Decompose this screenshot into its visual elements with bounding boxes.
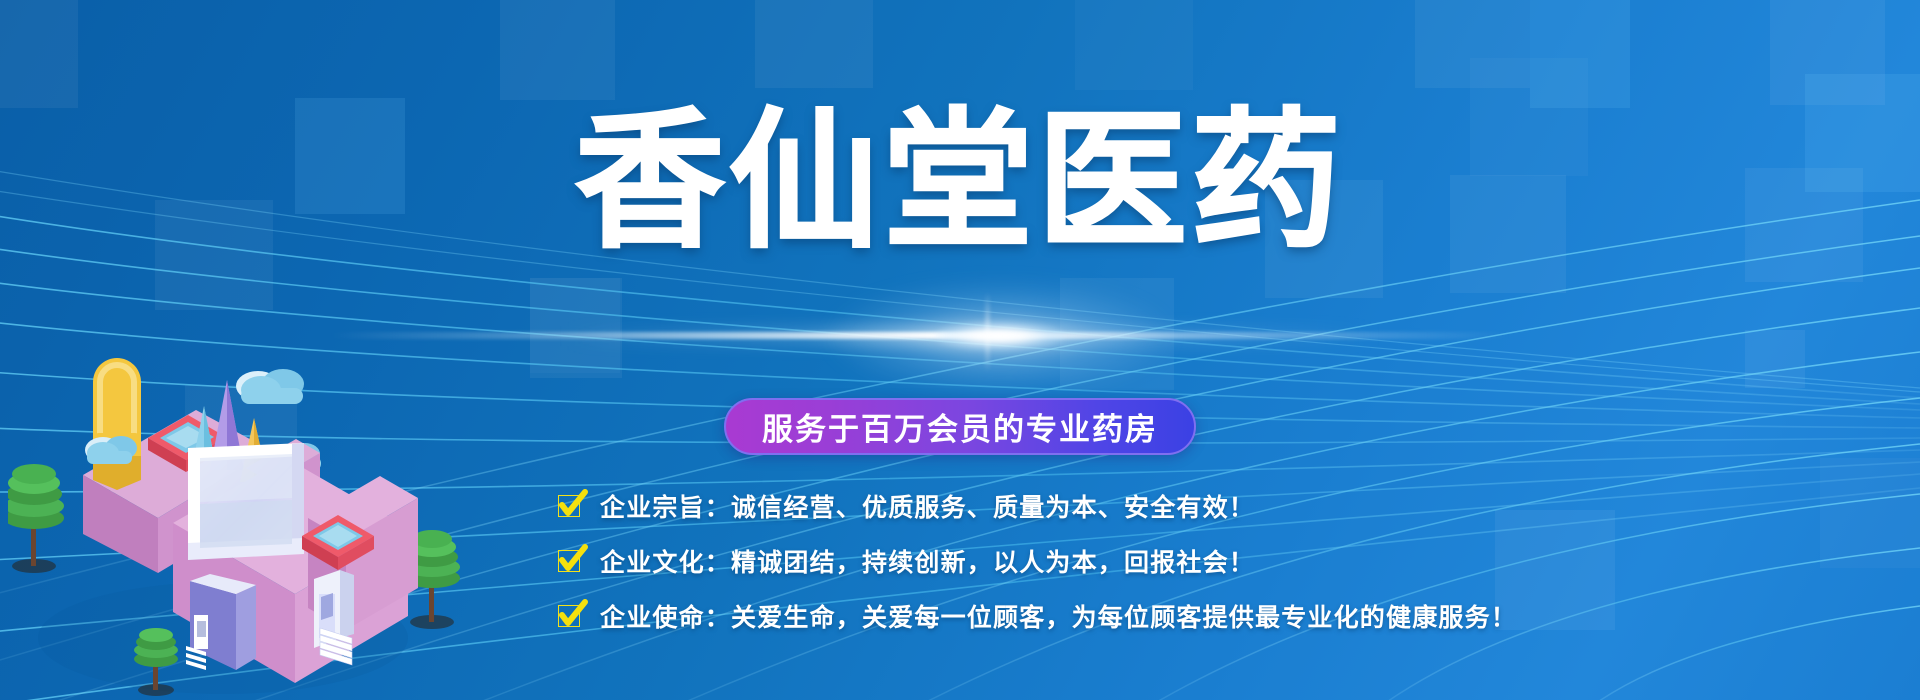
bg-square: [530, 278, 622, 378]
list-item: 企业宗旨：诚信经营、优质服务、质量为本、安全有效！: [558, 478, 1888, 533]
tree-icon: [134, 628, 178, 696]
check-square-icon: [558, 605, 580, 627]
bullet-list: 企业宗旨：诚信经营、优质服务、质量为本、安全有效！ 企业文化：精诚团结，持续创新…: [558, 478, 1888, 643]
badge-row: 服务于百万会员的专业药房: [0, 398, 1920, 455]
flare-streak-soft: [560, 326, 1380, 346]
flare-glow: [830, 282, 1170, 392]
bg-square: [530, 278, 620, 373]
bg-square: [500, 0, 615, 100]
skylight: [302, 515, 374, 570]
check-square-icon: [558, 495, 580, 517]
flare-ray: [986, 292, 989, 372]
bg-square: [1770, 0, 1885, 105]
bg-square: [1415, 0, 1530, 88]
list-item-label: 企业使命：关爱生命，关爱每一位顾客，为每位顾客提供最专业化的健康服务！: [600, 598, 1517, 634]
list-item: 企业使命：关爱生命，关爱每一位顾客，为每位顾客提供最专业化的健康服务！: [558, 588, 1888, 643]
isometric-pharmacy-illustration: [8, 338, 478, 700]
bg-square: [1530, 0, 1630, 108]
list-item-label: 企业文化：精诚团结，持续创新，以人为本，回报社会！: [600, 543, 1255, 579]
list-item-label: 企业宗旨：诚信经营、优质服务、质量为本、安全有效！: [600, 488, 1255, 524]
page-title: 香仙堂医药: [0, 106, 1920, 256]
tree-icon: [404, 530, 460, 629]
tree-icon: [8, 464, 64, 573]
bg-square: [1060, 278, 1174, 390]
promo-banner: 香仙堂医药 服务于百万会员的专业药房 企业宗旨：诚信经营、优质服务、质量为本、安…: [0, 0, 1920, 700]
bg-square: [755, 0, 873, 88]
check-square-icon: [558, 550, 580, 572]
bg-square: [0, 0, 78, 108]
glass-facade: [188, 443, 304, 560]
building-right-extension: [308, 476, 418, 630]
list-item: 企业文化：精诚团结，持续创新，以人为本，回报社会！: [558, 533, 1888, 588]
flare-core: [935, 322, 1065, 350]
bg-square: [1745, 330, 1805, 388]
bg-square: [1075, 0, 1193, 90]
flare-streak: [330, 332, 1510, 339]
building-main-block: [173, 458, 408, 683]
tagline-badge: 服务于百万会员的专业药房: [724, 398, 1196, 455]
entrance-right: [314, 570, 354, 665]
lens-flare: [0, 276, 1920, 396]
entrance-left: [186, 574, 256, 670]
